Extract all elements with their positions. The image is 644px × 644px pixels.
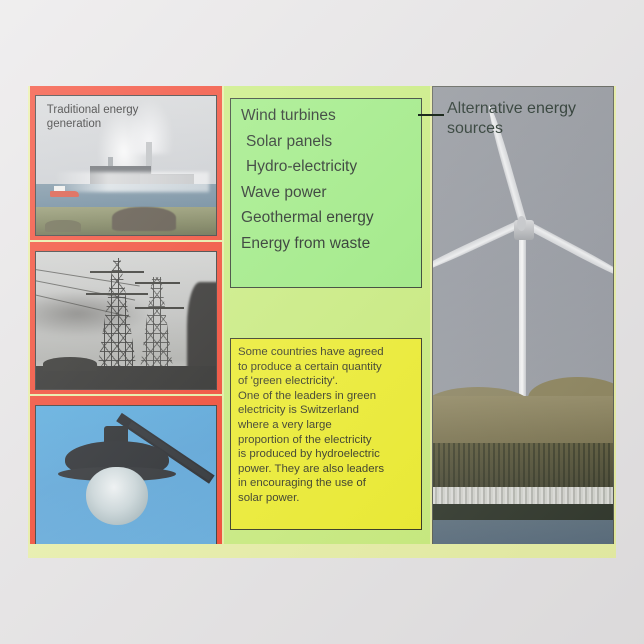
pylon-crossarm xyxy=(90,271,144,273)
turbine-hub xyxy=(517,216,526,231)
list-item: Wave power xyxy=(241,185,421,201)
photo-caption: Traditional energy generation xyxy=(47,103,139,132)
pylon-crossarm xyxy=(135,307,184,309)
callout-connector-line xyxy=(418,114,444,116)
artwork-panel: Traditional energy generation xyxy=(28,86,616,558)
list-item: Solar panels xyxy=(241,134,421,150)
paragraph-line: of 'green electricity'. xyxy=(238,374,416,389)
list-item: Hydro-electricity xyxy=(241,159,421,175)
scrub-vegetation xyxy=(433,443,613,490)
list-item: Geothermal energy xyxy=(241,210,421,226)
paragraph-line: power. They are also leaders xyxy=(238,462,416,477)
artwork-bottom-strip xyxy=(28,544,616,558)
foreground-bush-secondary xyxy=(45,220,81,233)
paragraph-line: solar power. xyxy=(238,491,416,506)
heading-line1: Alternative energy xyxy=(447,99,612,119)
paragraph-line: Some countries have agreed xyxy=(238,345,416,360)
foreground-vegetation xyxy=(36,366,216,389)
haze-band xyxy=(54,172,209,191)
alternative-energy-list-box: Wind turbines Solar panels Hydro-electri… xyxy=(230,98,422,288)
list-item: Energy from waste xyxy=(241,236,421,252)
paragraph-line: is produced by hydroelectric xyxy=(238,447,416,462)
middle-content-column: Wind turbines Solar panels Hydro-electri… xyxy=(224,86,430,556)
street-lamp-photo-frame xyxy=(30,396,222,556)
alternative-energy-list: Wind turbines Solar panels Hydro-electri… xyxy=(231,99,421,251)
traditional-energy-photo-column: Traditional energy generation xyxy=(30,86,222,556)
red-boat-icon xyxy=(50,191,79,198)
shoreline-strip xyxy=(433,504,613,520)
paragraph-line: where a very large xyxy=(238,418,416,433)
power-station-photo-frame: Traditional energy generation xyxy=(30,86,222,240)
pylons-photo xyxy=(35,251,217,390)
heading-line2: sources xyxy=(447,119,612,139)
pylons-photo-frame xyxy=(30,242,222,394)
paragraph-line: electricity is Switzerland xyxy=(238,403,416,418)
paragraph-line: One of the leaders in green xyxy=(238,389,416,404)
paragraph-line: proportion of the electricity xyxy=(238,433,416,448)
photo-caption-line1: Traditional energy xyxy=(47,103,139,117)
alternative-energy-heading: Alternative energy sources xyxy=(447,99,612,138)
street-lamp-photo xyxy=(35,405,217,552)
photo-caption-line2: generation xyxy=(47,117,139,131)
list-item: Wind turbines xyxy=(241,108,421,124)
green-electricity-paragraph-box: Some countries have agreed to produce a … xyxy=(230,338,422,530)
foreground-bush xyxy=(112,207,177,231)
poster-surface: Traditional energy generation xyxy=(0,0,644,644)
lamp-globe-icon xyxy=(86,467,147,525)
paragraph-line: in encouraging the use of xyxy=(238,476,416,491)
dark-cloud xyxy=(35,290,153,337)
pylon-crossarm xyxy=(86,293,147,295)
power-station-photo: Traditional energy generation xyxy=(35,95,217,236)
wind-turbine-photo: Alternative energy sources xyxy=(432,86,614,556)
paragraph-line: to produce a certain quantity xyxy=(238,360,416,375)
pylon-crossarm xyxy=(135,282,180,284)
